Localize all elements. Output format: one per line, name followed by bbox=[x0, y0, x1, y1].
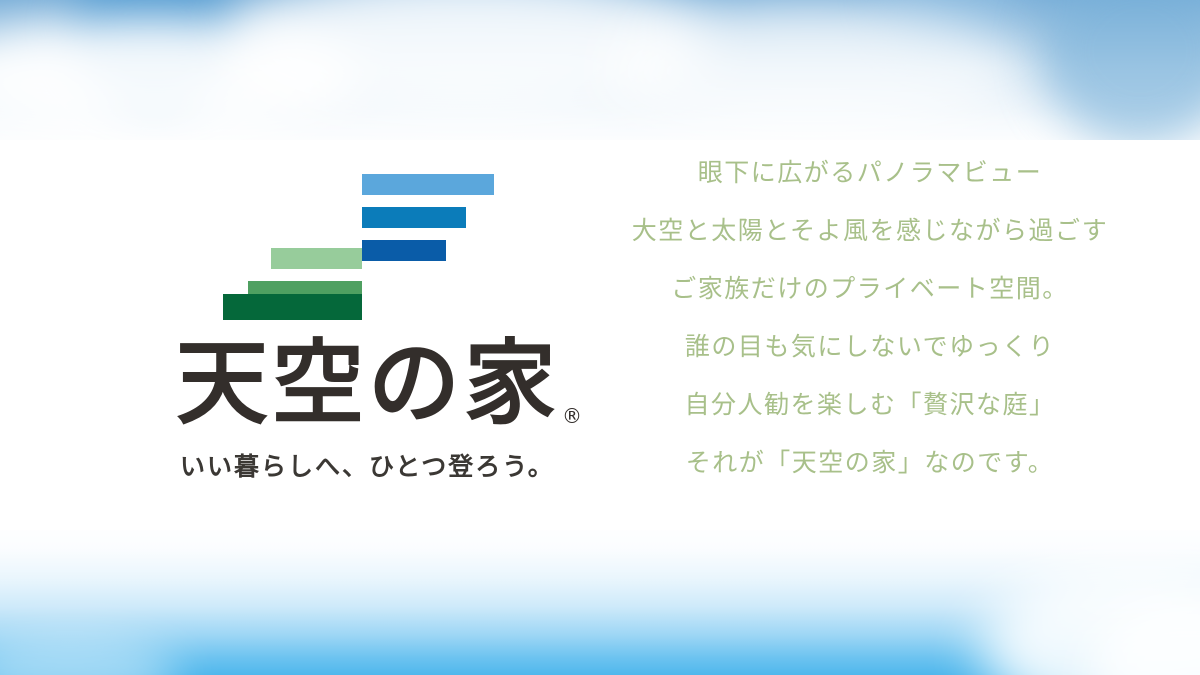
registered-trademark-icon: ® bbox=[562, 404, 582, 428]
copy-line-5: 自分人勧を楽しむ「贅沢な庭」 bbox=[620, 392, 1120, 417]
copy-line-1: 眼下に広がるパノラマビュー bbox=[620, 160, 1120, 185]
logo-bar-blue-dark bbox=[362, 240, 446, 261]
brand-tagline: いい暮らしへ、ひとつ登ろう。 bbox=[180, 454, 580, 479]
logo-bar-green-dark bbox=[223, 294, 362, 320]
logo-bar-blue-mid bbox=[362, 207, 466, 228]
copy-line-2: 大空と太陽とそよ風を感じながら過ごす bbox=[620, 218, 1120, 243]
copy-line-4: 誰の目も気にしないでゆっくり bbox=[620, 334, 1120, 359]
slide-canvas: 天空の家® いい暮らしへ、ひとつ登ろう。 眼下に広がるパノラマビュー 大空と太陽… bbox=[0, 0, 1200, 675]
brand-wordmark: 天空の家® bbox=[176, 338, 576, 430]
brand-wordmark-text: 天空の家 bbox=[176, 330, 560, 437]
marketing-copy-block: 眼下に広がるパノラマビュー 大空と太陽とそよ風を感じながら過ごす ご家族だけのプ… bbox=[620, 160, 1120, 475]
stair-step-logo-icon bbox=[0, 160, 560, 320]
copy-line-6: それが「天空の家」なのです。 bbox=[620, 450, 1120, 475]
logo-bar-green-light bbox=[271, 248, 362, 269]
logo-bar-blue-light bbox=[362, 174, 494, 195]
slide-content: 天空の家® いい暮らしへ、ひとつ登ろう。 眼下に広がるパノラマビュー 大空と太陽… bbox=[0, 0, 1200, 675]
brand-logo-lockup: 天空の家® いい暮らしへ、ひとつ登ろう。 bbox=[0, 160, 560, 320]
copy-line-3: ご家族だけのプライベート空間。 bbox=[620, 276, 1120, 301]
